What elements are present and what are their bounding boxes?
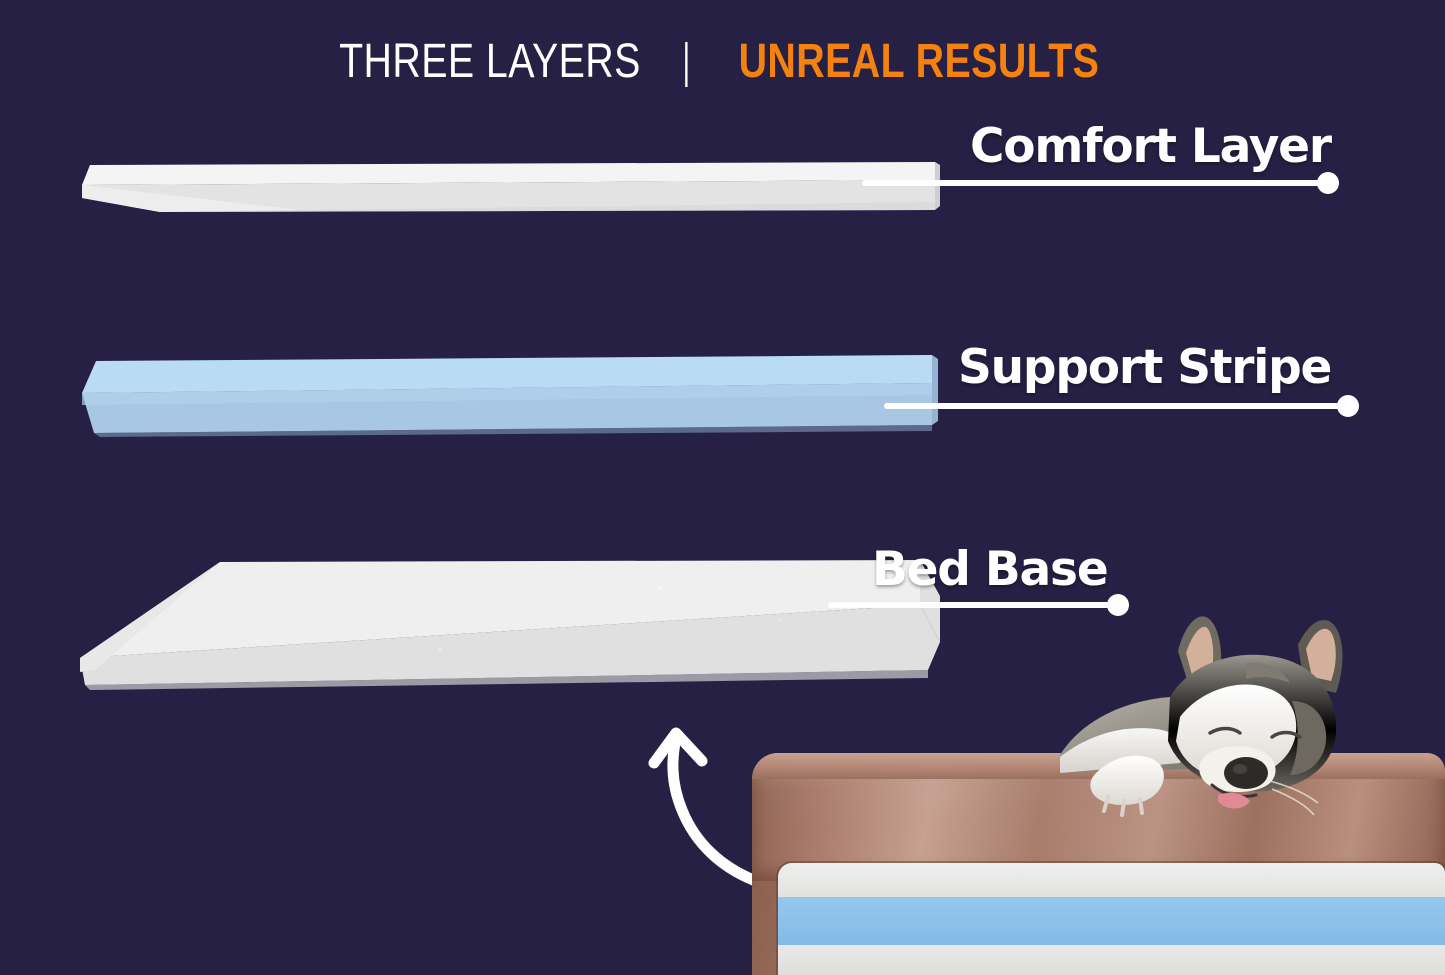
support-stripe-slab — [60, 345, 960, 455]
bed-base-slab — [60, 550, 960, 710]
foam-band-blue — [778, 897, 1445, 945]
sleeping-dog-photo — [1060, 605, 1445, 830]
page-title: THREE LAYERS | UNREAL RESULTS — [0, 36, 1445, 88]
title-separator: | — [681, 36, 691, 88]
bed-base-label: Bed Base — [872, 545, 1108, 595]
title-orange-text: UNREAL RESULTS — [739, 36, 1100, 88]
title-white-text: THREE LAYERS — [339, 36, 641, 88]
support-stripe-leader-line — [884, 403, 1348, 409]
infographic-canvas: THREE LAYERS | UNREAL RESULTS Comfort La… — [0, 0, 1445, 975]
bed-foam-stripes — [778, 863, 1445, 975]
comfort-layer-leader-dot — [1317, 172, 1339, 194]
foam-band-white-bottom — [778, 945, 1445, 975]
support-stripe-leader-dot — [1337, 395, 1359, 417]
foam-band-white-top — [778, 863, 1445, 897]
support-stripe-label: Support Stripe — [958, 343, 1331, 393]
comfort-layer-leader-line — [862, 180, 1328, 186]
comfort-layer-slab — [60, 140, 960, 250]
comfort-layer-label: Comfort Layer — [970, 122, 1331, 172]
